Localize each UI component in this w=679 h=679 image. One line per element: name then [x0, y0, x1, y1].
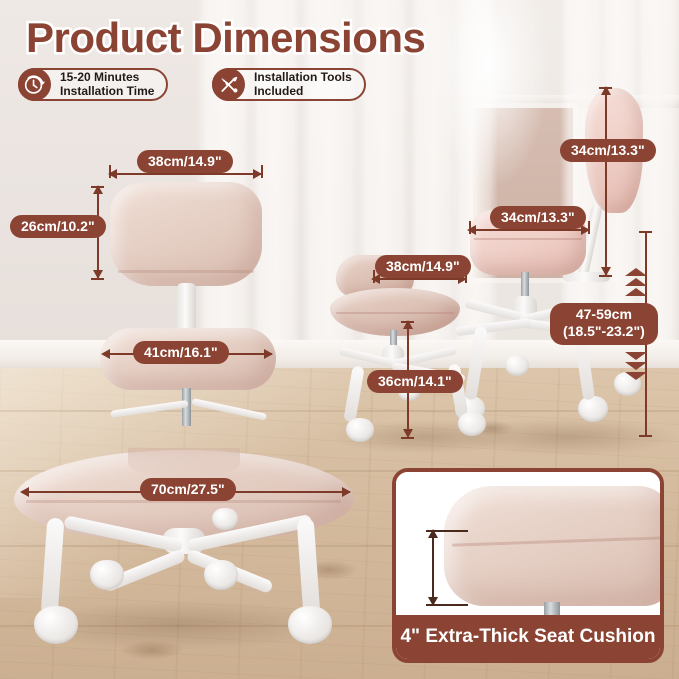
backrest-seam [118, 270, 254, 273]
dimension-line-right-backrest-height [605, 88, 607, 276]
dimension-tick [639, 231, 652, 233]
dimension-label-right-seat-width: 34cm/13.3" [490, 206, 586, 229]
dimension-label-overall-width: 70cm/27.5" [140, 478, 236, 501]
dimension-tick [109, 165, 111, 178]
chevron-up-icon [625, 278, 647, 286]
dimension-tick [401, 321, 414, 323]
dimension-label-right-backrest-height: 34cm/13.3" [560, 139, 656, 162]
cushion-closeup [444, 486, 660, 606]
caster-wheel [346, 418, 374, 442]
dimension-label-backrest-height: 26cm/10.2" [10, 215, 106, 238]
dimension-tick [91, 186, 104, 188]
chevron-down-icon [625, 362, 647, 370]
seat-seam [336, 312, 454, 314]
dimension-line-backrest-width [110, 173, 262, 175]
dimension-tick [599, 275, 612, 277]
dimension-tick [639, 435, 652, 437]
cushion-post [544, 602, 560, 615]
dimension-label-seat-depth: 41cm/16.1" [133, 341, 229, 364]
dimension-tick [599, 87, 612, 89]
dimension-tick [401, 437, 414, 439]
seat-contour [128, 448, 240, 478]
caster-wheel [505, 355, 529, 376]
tools-icon [212, 68, 245, 101]
dimension-label-mid-seat-height: 36cm/14.1" [367, 370, 463, 393]
window-light-glow [430, 0, 550, 190]
product-dimensions-infographic: 38cm/14.9" 26cm/10.2" 41cm/16.1" 38cm/14… [0, 0, 679, 679]
dimension-line-right-seat-width [470, 229, 589, 231]
dimension-label-adjustable-height: 47-59cm (18.5"-23.2") [550, 303, 658, 345]
dimension-tick [588, 221, 590, 234]
dimension-tick [91, 278, 104, 280]
arrow-left-icon [20, 487, 29, 497]
chevron-down-icon [625, 352, 647, 360]
dimension-line-mid-seat-width [374, 278, 466, 280]
dimension-line-cushion-thickness [432, 530, 434, 606]
callout-photo [396, 472, 660, 615]
dimension-tick [469, 221, 471, 234]
page-title: Product Dimensions [26, 14, 425, 62]
caster-wheel [288, 606, 332, 644]
chevron-up-icon [625, 288, 647, 296]
arrow-left-icon [101, 349, 110, 359]
caster-wheel [578, 396, 608, 422]
seat-seam [474, 238, 582, 240]
chevron-down-stack-icon [623, 352, 649, 382]
arrow-right-icon [264, 349, 273, 359]
dimension-tick [261, 165, 263, 178]
caster-wheel [204, 560, 238, 590]
badge-installation-tools: Installation Tools Included [212, 68, 366, 101]
caster-wheel [212, 508, 238, 530]
seat-cushion-callout: 4" Extra-Thick Seat Cushion [392, 468, 664, 663]
dimension-label-backrest-width: 38cm/14.9" [137, 150, 233, 173]
caster-wheel [34, 606, 78, 644]
badge-installation-time-label: 15-20 Minutes Installation Time [60, 71, 154, 98]
badge-installation-tools-label: Installation Tools Included [254, 71, 352, 98]
clock-icon [18, 68, 51, 101]
callout-caption: 4" Extra-Thick Seat Cushion [396, 615, 660, 659]
chevron-up-stack-icon [623, 268, 649, 298]
backrest-post [177, 283, 196, 331]
arrow-down-icon [428, 597, 438, 606]
chevron-down-icon [625, 372, 647, 380]
arrow-up-icon [428, 529, 438, 538]
chevron-up-icon [625, 268, 647, 276]
dimension-label-mid-seat-width: 38cm/14.9" [375, 255, 471, 278]
badge-installation-time: 15-20 Minutes Installation Time [18, 68, 168, 101]
arrow-right-icon [342, 487, 351, 497]
caster-wheel [90, 560, 124, 590]
dimension-tick [373, 270, 375, 283]
caster-wheel [458, 412, 486, 436]
